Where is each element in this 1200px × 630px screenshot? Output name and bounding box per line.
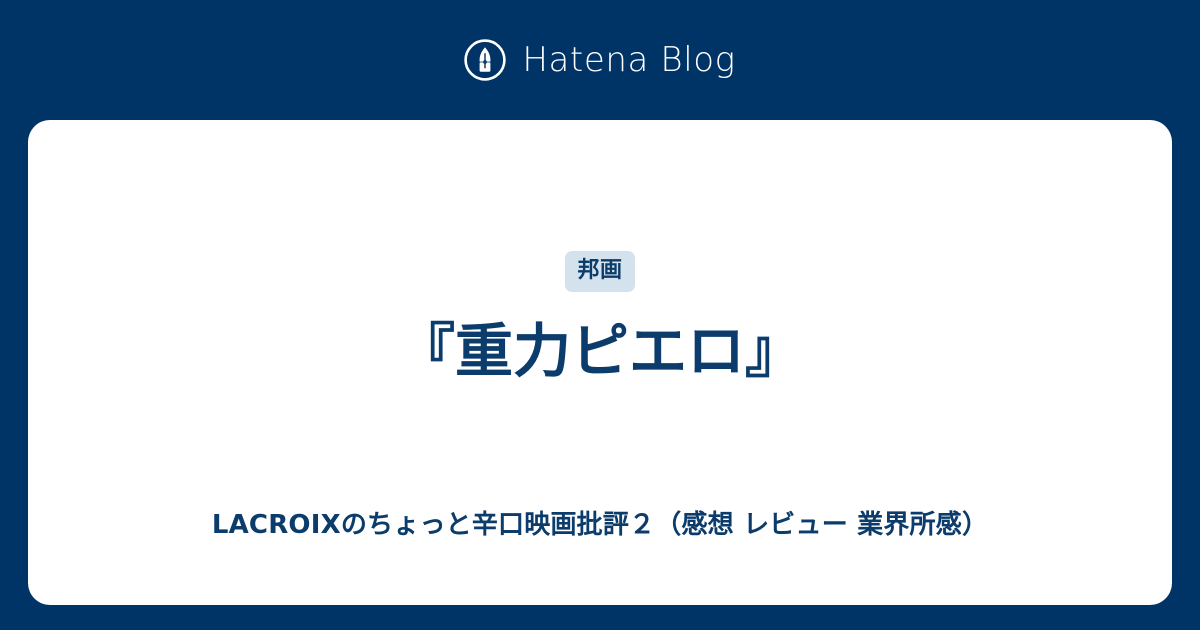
entry-card: 邦画 『重力ピエロ』 LACROIXのちょっと辛口映画批評２（感想 レビュー 業… xyxy=(28,120,1172,605)
hatena-logo xyxy=(464,39,506,81)
entry-card-inner: 邦画 『重力ピエロ』 LACROIXのちょっと辛口映画批評２（感想 レビュー 業… xyxy=(28,120,1172,605)
category-badge-row: 邦画 xyxy=(28,251,1172,292)
service-name: Hatena Blog xyxy=(522,43,735,77)
blog-title: LACROIXのちょっと辛口映画批評２（感想 レビュー 業界所感） xyxy=(68,509,1132,543)
category-badge[interactable]: 邦画 xyxy=(565,251,634,292)
brand-header: Hatena Blog xyxy=(0,0,1200,120)
entry-title: 『重力ピエロ』 xyxy=(68,315,1132,388)
hatena-pen-nib-icon xyxy=(464,39,506,81)
